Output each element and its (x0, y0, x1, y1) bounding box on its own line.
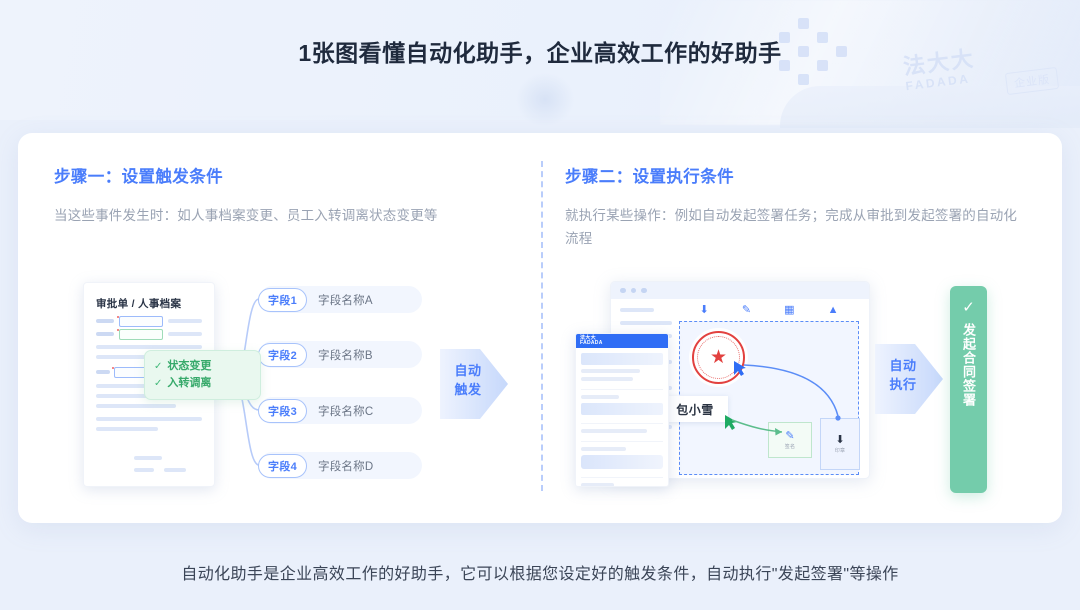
badge-label: 状态变更 (167, 358, 211, 375)
badge-label: 入转调离 (167, 375, 211, 392)
field-name: 字段名称A (318, 292, 373, 308)
drag-arrows (680, 322, 858, 474)
field-pill: 字段2 (258, 343, 307, 367)
stamp-icon[interactable]: ⬇ (700, 305, 709, 316)
field-pill: 字段4 (258, 454, 307, 478)
trigger-badge: ✓ 状态变更 ✓ 入转调离 (144, 350, 261, 400)
infographic-page: 法大大 FADADA 企业版 1张图看懂自动化助手，企业高效工作的好助手 步骤一… (0, 0, 1080, 610)
check-icon: ✓ (154, 359, 162, 375)
step-divider (541, 161, 543, 491)
field-row[interactable]: 字段3 字段名称C (259, 397, 422, 424)
pen-icon[interactable]: ✎ (742, 305, 751, 316)
auto-execute-arrow: 自动执行 (875, 336, 943, 422)
step-one-desc: 当这些事件发生时：如人事档案变更、员工入转调离状态变更等 (54, 204, 509, 227)
auto-trigger-arrow: 自动触发 (440, 341, 508, 427)
main-card: 步骤一：设置触发条件 当这些事件发生时：如人事档案变更、员工入转调离状态变更等 … (18, 133, 1062, 523)
header-shadow (515, 72, 575, 127)
check-icon: ✓ (154, 376, 162, 392)
check-icon: ✓ (962, 300, 975, 315)
panel-group (581, 447, 663, 478)
footer-caption: 自动化助手是企业高效工作的好助手，它可以根据您设定好的触发条件，自动执行"发起签… (0, 560, 1080, 584)
browser-titlebar (611, 282, 869, 299)
panel-group (581, 353, 663, 390)
document-title: 审批单 / 人事档案 (96, 296, 181, 311)
execute-illustration: ⬇ ✎ ▦ ▲ ★ 包小雪 (565, 281, 1035, 493)
calendar-icon[interactable]: ▦ (784, 305, 794, 316)
side-app-panel: 法大大FADADA (575, 333, 669, 487)
panel-group (581, 395, 663, 424)
field-row[interactable]: 字段4 字段名称D (259, 452, 422, 479)
signature-canvas: ★ 包小雪 ✎ 签名 (679, 321, 859, 475)
step-one-title: 步骤一：设置触发条件 (54, 163, 516, 187)
window-dot (631, 288, 637, 294)
auto-execute-label: 自动执行 (882, 357, 924, 395)
header-blob (780, 86, 1080, 128)
panel-group (581, 483, 663, 487)
field-name: 字段名称B (318, 347, 373, 363)
field-row[interactable]: 字段2 字段名称B (259, 341, 422, 368)
field-name: 字段名称C (318, 403, 373, 419)
window-dot (620, 288, 626, 294)
step-two-desc: 就执行某些操作：例如自动发起签署任务；完成从审批到发起签署的自动化流程 (565, 204, 1020, 250)
field-pill: 字段3 (258, 399, 307, 423)
auto-trigger-label: 自动触发 (447, 362, 489, 400)
field-name: 字段名称D (318, 458, 373, 474)
panel-logo: 法大大FADADA (580, 336, 603, 347)
badge-item: ✓ 入转调离 (154, 375, 251, 392)
editor-toolbar: ⬇ ✎ ▦ ▲ (683, 301, 855, 319)
window-dot (641, 288, 647, 294)
page-title: 1张图看懂自动化助手，企业高效工作的好助手 (0, 34, 1080, 68)
panel-header: 法大大FADADA (576, 334, 668, 348)
field-pill: 字段1 (258, 288, 307, 312)
upload-icon[interactable]: ▲ (828, 305, 839, 316)
result-card: ✓ 发起合同签署 (950, 286, 987, 493)
badge-item: ✓ 状态变更 (154, 358, 251, 375)
trigger-illustration: 审批单 / 人事档案 (54, 281, 524, 491)
step-two: 步骤二：设置执行条件 就执行某些操作：例如自动发起签署任务；完成从审批到发起签署… (565, 163, 1027, 250)
panel-group (581, 429, 663, 442)
result-card-label: 发起合同签署 (958, 323, 979, 407)
step-two-title: 步骤二：设置执行条件 (565, 163, 1027, 187)
field-row[interactable]: 字段1 字段名称A (259, 286, 422, 313)
step-one: 步骤一：设置触发条件 当这些事件发生时：如人事档案变更、员工入转调离状态变更等 (54, 163, 516, 227)
